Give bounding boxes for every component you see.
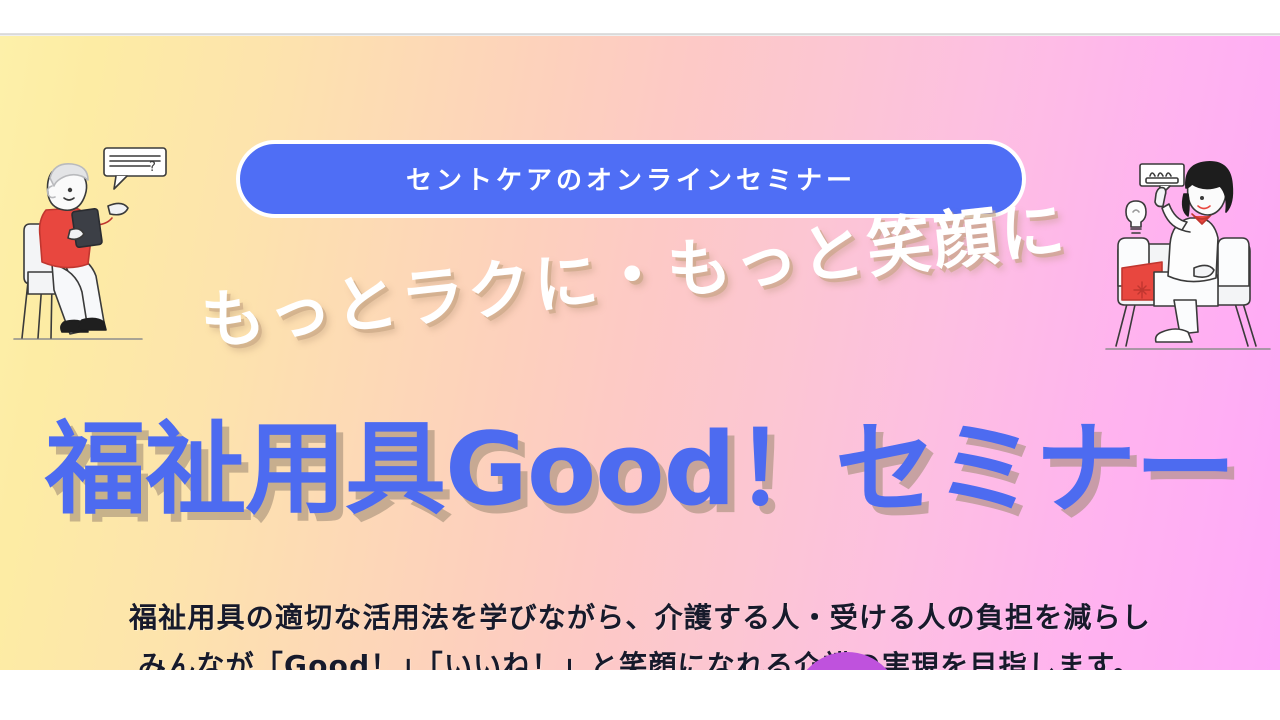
top-white-strip bbox=[0, 0, 1280, 34]
seminar-badge[interactable]: セントケアのオンラインセミナー bbox=[236, 140, 1026, 218]
page-title-text: 福祉用具Good！セミナー bbox=[45, 388, 1235, 534]
seated-elderly-person-with-tablet-illustration: ? bbox=[8, 132, 208, 350]
hero-banner: ? bbox=[0, 36, 1280, 670]
description-line-2: みんなが「Good！」「いいね！」と笑顔になれる介護の実現を目指します。 bbox=[0, 642, 1280, 670]
description: 福祉用具の適切な活用法を学びながら、介護する人・受ける人の負担を減らし みんなが… bbox=[0, 594, 1280, 670]
seminar-badge-pill[interactable]: セントケアのオンラインセミナー bbox=[236, 140, 1026, 218]
seated-woman-pointing-illustration bbox=[1098, 140, 1278, 362]
seminar-badge-label: セントケアのオンラインセミナー bbox=[406, 160, 856, 197]
svg-text:?: ? bbox=[149, 160, 156, 175]
page-title: 福祉用具Good！セミナー bbox=[0, 401, 1280, 521]
description-line-1: 福祉用具の適切な活用法を学びながら、介護する人・受ける人の負担を減らし bbox=[0, 594, 1280, 642]
slide-canvas: ? bbox=[0, 0, 1280, 720]
